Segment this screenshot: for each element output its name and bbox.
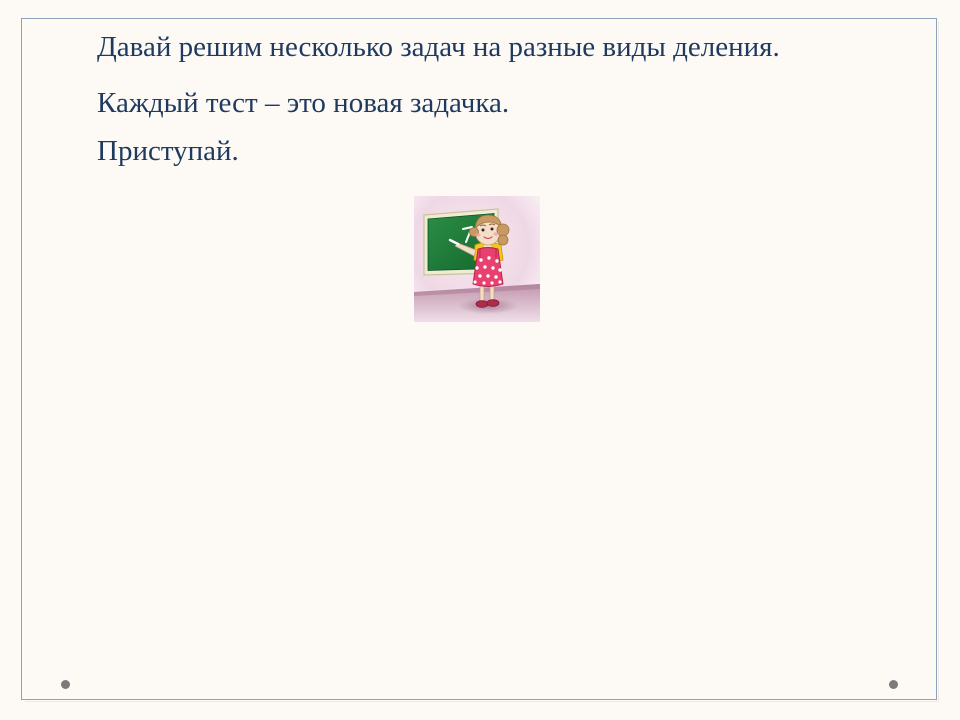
- presentation-slide: Давай решим несколько задач на разные ви…: [0, 0, 960, 720]
- bottom-right-dot: [889, 680, 898, 689]
- paragraph-test-note: Каждый тест – это новая задачка.: [33, 81, 927, 125]
- bottom-left-dot: [61, 680, 70, 689]
- paragraph-spacer: [33, 73, 927, 81]
- girl-at-blackboard-image: [414, 196, 540, 322]
- paragraph-call-to-action: Приступай.: [33, 129, 927, 173]
- paragraph-intro: Давай решим несколько задач на разные ви…: [33, 25, 927, 69]
- slide-text-body: Давай решим несколько задач на разные ви…: [33, 25, 927, 177]
